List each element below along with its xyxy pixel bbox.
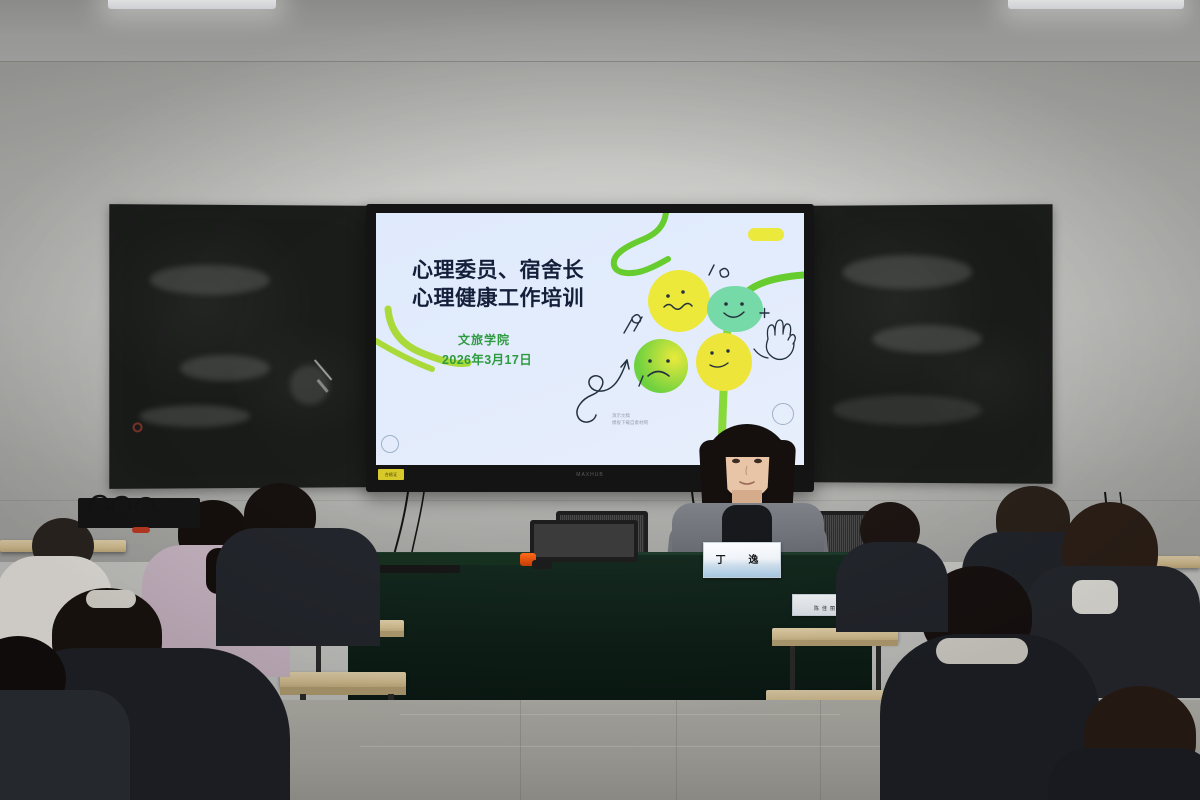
cable-connector bbox=[132, 527, 150, 533]
slide-watermark: 演示文稿 模板下载自素材网 bbox=[612, 413, 648, 427]
certification-sticker-label: 合格证 bbox=[378, 469, 404, 480]
student-desk bbox=[280, 672, 406, 688]
microphone-body bbox=[532, 560, 552, 569]
classroom-scene: 心理委员、宿舍长 心理健康工作培训 文旅学院 2026年3月17日 演示文稿 模… bbox=[0, 0, 1200, 800]
certification-sticker: 合格证 bbox=[378, 469, 404, 480]
slide-ring-right bbox=[772, 403, 794, 425]
presenter-name-card: 丁 逸 bbox=[703, 542, 781, 578]
slide-watermark-line1: 演示文稿 bbox=[612, 413, 648, 420]
ceiling bbox=[0, 0, 1200, 62]
podium-monitor-screen bbox=[534, 524, 634, 557]
slide-ring-left bbox=[381, 435, 399, 453]
blackboard-left bbox=[109, 204, 377, 489]
podium-monitor[interactable] bbox=[530, 520, 638, 562]
neutral-face-blob bbox=[696, 333, 752, 391]
ceiling-light-panel-left bbox=[108, 0, 276, 9]
slide-title-line2: 心理健康工作培训 bbox=[412, 285, 682, 313]
display-brand-logo: MAXHUB bbox=[576, 472, 603, 478]
slide-watermark-line2: 模板下载自素材网 bbox=[612, 420, 648, 427]
sad-face-blob bbox=[634, 339, 688, 393]
mixer-cables bbox=[78, 492, 218, 526]
slide-title-line1: 心理委员、宿舍长 bbox=[412, 257, 682, 285]
blackboard-right bbox=[813, 204, 1053, 484]
presenter-name-card-text: 丁 逸 bbox=[704, 551, 780, 566]
slide-title: 心理委员、宿舍长 心理健康工作培训 bbox=[412, 257, 682, 312]
slide-subtitle-date: 2026年3月17日 bbox=[442, 349, 532, 368]
slide-subtitle-org: 文旅学院 bbox=[458, 331, 510, 348]
chalk-marks-left bbox=[109, 204, 377, 489]
yellow-pill-shape bbox=[748, 228, 784, 241]
smiling-face-blob bbox=[707, 286, 763, 332]
ceiling-light-panel-right bbox=[1008, 0, 1184, 9]
